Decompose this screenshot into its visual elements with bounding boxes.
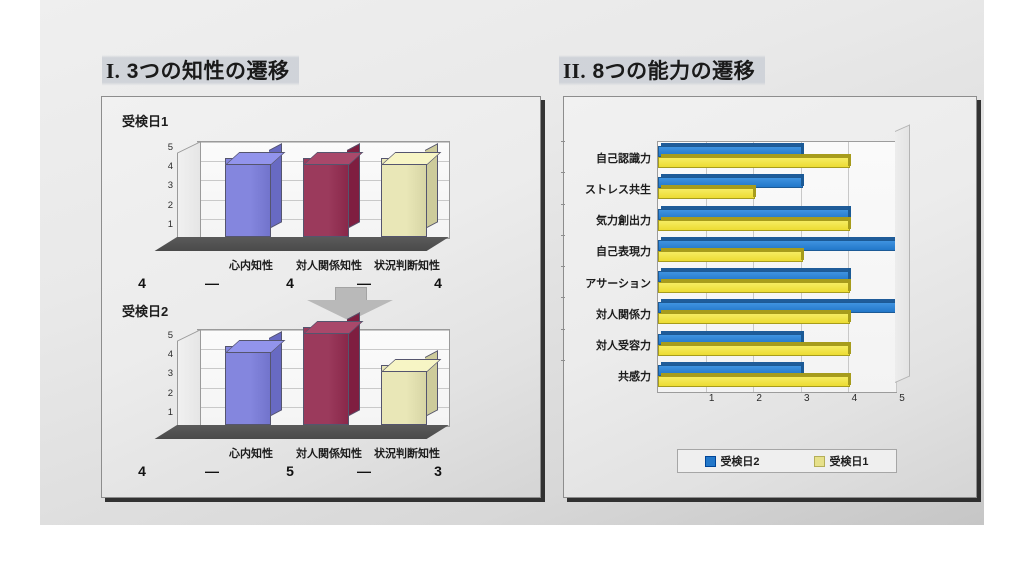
category-label: 心内知性: [207, 445, 295, 461]
axis-tick: [561, 360, 565, 361]
hbar-受検日1-対人受容力: [658, 345, 848, 354]
x-axis-tick-label: 5: [899, 393, 905, 404]
axis-tick: [561, 266, 565, 267]
x-axis-tick-label: 3: [804, 393, 810, 404]
bar-face: [658, 345, 850, 356]
panel-three-intelligences: 受検日1 54321 心内知性対人関係知性状況判断知性 4—4—4 受検日2 5…: [101, 96, 541, 498]
bar-end: [801, 174, 804, 186]
category-label: 共感力: [565, 368, 651, 384]
legend-item: 受検日2: [705, 453, 759, 469]
bottom-margin: [0, 525, 1024, 576]
bar-1: [303, 160, 347, 237]
bar-top: [661, 174, 804, 177]
chart2-label: 受検日2: [122, 301, 168, 320]
category-label: 自己表現力: [565, 243, 651, 259]
category-label: 気力創出力: [565, 212, 651, 228]
value-label: 4: [122, 463, 162, 479]
bar-top: [661, 248, 804, 251]
section-numeral-left: I.: [106, 59, 120, 83]
bar-top: [661, 217, 851, 220]
panel-eight-abilities: 自己認識力ストレス共生気力創出力自己表現力アサーション対人関係力対人受容力共感力…: [563, 96, 977, 498]
section-heading-left: I. 3つの知性の遷移: [102, 53, 299, 87]
hbar-受検日1-ストレス共生: [658, 188, 753, 197]
hbar-受検日1-共感力: [658, 376, 848, 385]
bar-end: [848, 154, 851, 166]
bar-top: [661, 373, 851, 376]
bar-front: [381, 365, 427, 425]
value-label: 3: [418, 463, 458, 479]
bar-top: [661, 185, 756, 188]
bar-top: [661, 362, 804, 365]
bar-1: [303, 329, 347, 425]
hbar-plot-area: [657, 141, 897, 393]
bar-0: [225, 160, 269, 237]
bar-front: [303, 327, 349, 425]
legend-item: 受検日1: [814, 453, 868, 469]
bar-front: [381, 158, 427, 237]
x-axis-tick-label: 2: [756, 393, 762, 404]
chart2-value-row: 4—5—3: [122, 463, 462, 481]
y-axis-tick-label: 1: [157, 407, 173, 418]
axis-tick: [561, 297, 565, 298]
bar-top: [661, 154, 851, 157]
chart1-label: 受検日1: [122, 111, 168, 130]
report-page: I. 3つの知性の遷移 II. 8つの能力の遷移 受検日1 54321 心内知性…: [40, 0, 984, 525]
bar-top: [661, 310, 851, 313]
bar-top: [661, 279, 851, 282]
section-numeral-right: II.: [563, 59, 586, 83]
category-label: 心内知性: [207, 257, 295, 273]
axis-tick: [561, 172, 565, 173]
horizontal-bar-chart: 自己認識力ストレス共生気力創出力自己表現力アサーション対人関係力対人受容力共感力…: [657, 141, 959, 413]
y-axis-tick-label: 3: [157, 180, 173, 191]
value-label: 5: [270, 463, 310, 479]
x-axis-tick-label: 1: [709, 393, 715, 404]
legend-label: 受検日2: [720, 453, 759, 469]
bar-front: [225, 158, 271, 237]
y-axis-tick-label: 1: [157, 219, 173, 230]
bar-top: [661, 331, 804, 334]
bar-face: [658, 188, 755, 199]
bar-end: [801, 248, 804, 260]
bar-top: [661, 237, 899, 240]
hbar-depth-wall: [895, 124, 910, 383]
bar-2: [381, 367, 425, 425]
legend-swatch-icon: [705, 456, 716, 467]
y-axis-tick-label: 4: [157, 349, 173, 360]
bar-0: [225, 348, 269, 425]
bar-end: [848, 310, 851, 322]
bar-top: [661, 299, 899, 302]
chart1-value-row: 4—4—4: [122, 275, 462, 293]
column-chart-test-day-1: 54321: [157, 141, 457, 251]
bar-face: [658, 282, 850, 293]
y-axis-tick-label: 2: [157, 388, 173, 399]
section-title-right: 8つの能力の遷移: [592, 60, 755, 83]
bar-end: [848, 217, 851, 229]
axis-tick: [561, 329, 565, 330]
chart-legend: 受検日2受検日1: [677, 449, 897, 473]
chart2-category-row: 心内知性対人関係知性状況判断知性: [157, 445, 457, 461]
section-heading-right: II. 8つの能力の遷移: [559, 53, 765, 87]
value-label: —: [192, 275, 232, 291]
bar-face: [658, 251, 803, 262]
hbar-受検日1-自己表現力: [658, 251, 801, 260]
hbar-受検日1-自己認識力: [658, 157, 848, 166]
x-axis-tick-label: 4: [852, 393, 858, 404]
hbar-受検日1-対人関係力: [658, 313, 848, 322]
hbar-category-axis: 自己認識力ストレス共生気力創出力自己表現力アサーション対人関係力対人受容力共感力: [565, 141, 651, 391]
bar-end: [753, 185, 756, 197]
axis-tick: [561, 235, 565, 236]
chart-side-wall: [177, 329, 201, 439]
bar-end: [848, 279, 851, 291]
axis-tick: [561, 204, 565, 205]
y-axis-tick-label: 5: [157, 330, 173, 341]
bar-top: [661, 342, 851, 345]
category-label: 対人関係知性: [285, 257, 373, 273]
category-label: 対人関係力: [565, 306, 651, 322]
value-label: 4: [270, 275, 310, 291]
bar-front: [225, 346, 271, 425]
bar-top: [661, 143, 804, 146]
bar-top: [661, 268, 851, 271]
value-label: 4: [418, 275, 458, 291]
y-axis-tick-label: 4: [157, 161, 173, 172]
chart-side-wall: [177, 141, 201, 251]
right-margin: [984, 0, 1024, 576]
y-axis-tick-label: 2: [157, 200, 173, 211]
bar-face: [658, 157, 850, 168]
category-label: 状況判断知性: [363, 445, 451, 461]
y-axis-tick-label: 5: [157, 142, 173, 153]
value-label: —: [344, 463, 384, 479]
chart-floor: [155, 425, 449, 439]
y-axis-tick-label: 3: [157, 368, 173, 379]
bar-end: [848, 373, 851, 385]
category-label: ストレス共生: [565, 181, 651, 197]
hbar-受検日1-気力創出力: [658, 220, 848, 229]
section-title-left: 3つの知性の遷移: [127, 60, 290, 83]
value-label: —: [192, 463, 232, 479]
category-label: 自己認識力: [565, 150, 651, 166]
value-label: 4: [122, 275, 162, 291]
axis-tick: [561, 141, 565, 142]
category-label: アサーション: [565, 275, 651, 291]
left-margin: [0, 0, 40, 576]
bar-end: [848, 342, 851, 354]
legend-swatch-icon: [814, 456, 825, 467]
bar-face: [658, 313, 850, 324]
legend-label: 受検日1: [829, 453, 868, 469]
bar-top: [661, 206, 851, 209]
category-label: 対人関係知性: [285, 445, 373, 461]
column-chart-test-day-2: 54321: [157, 329, 457, 439]
chart-floor: [155, 237, 449, 251]
bar-face: [658, 220, 850, 231]
chart1-category-row: 心内知性対人関係知性状況判断知性: [157, 257, 457, 273]
bar-face: [658, 376, 850, 387]
hbar-受検日1-アサーション: [658, 282, 848, 291]
gridline: [197, 142, 449, 143]
bar-2: [381, 160, 425, 237]
category-label: 対人受容力: [565, 337, 651, 353]
bar-front: [303, 158, 349, 237]
category-label: 状況判断知性: [363, 257, 451, 273]
